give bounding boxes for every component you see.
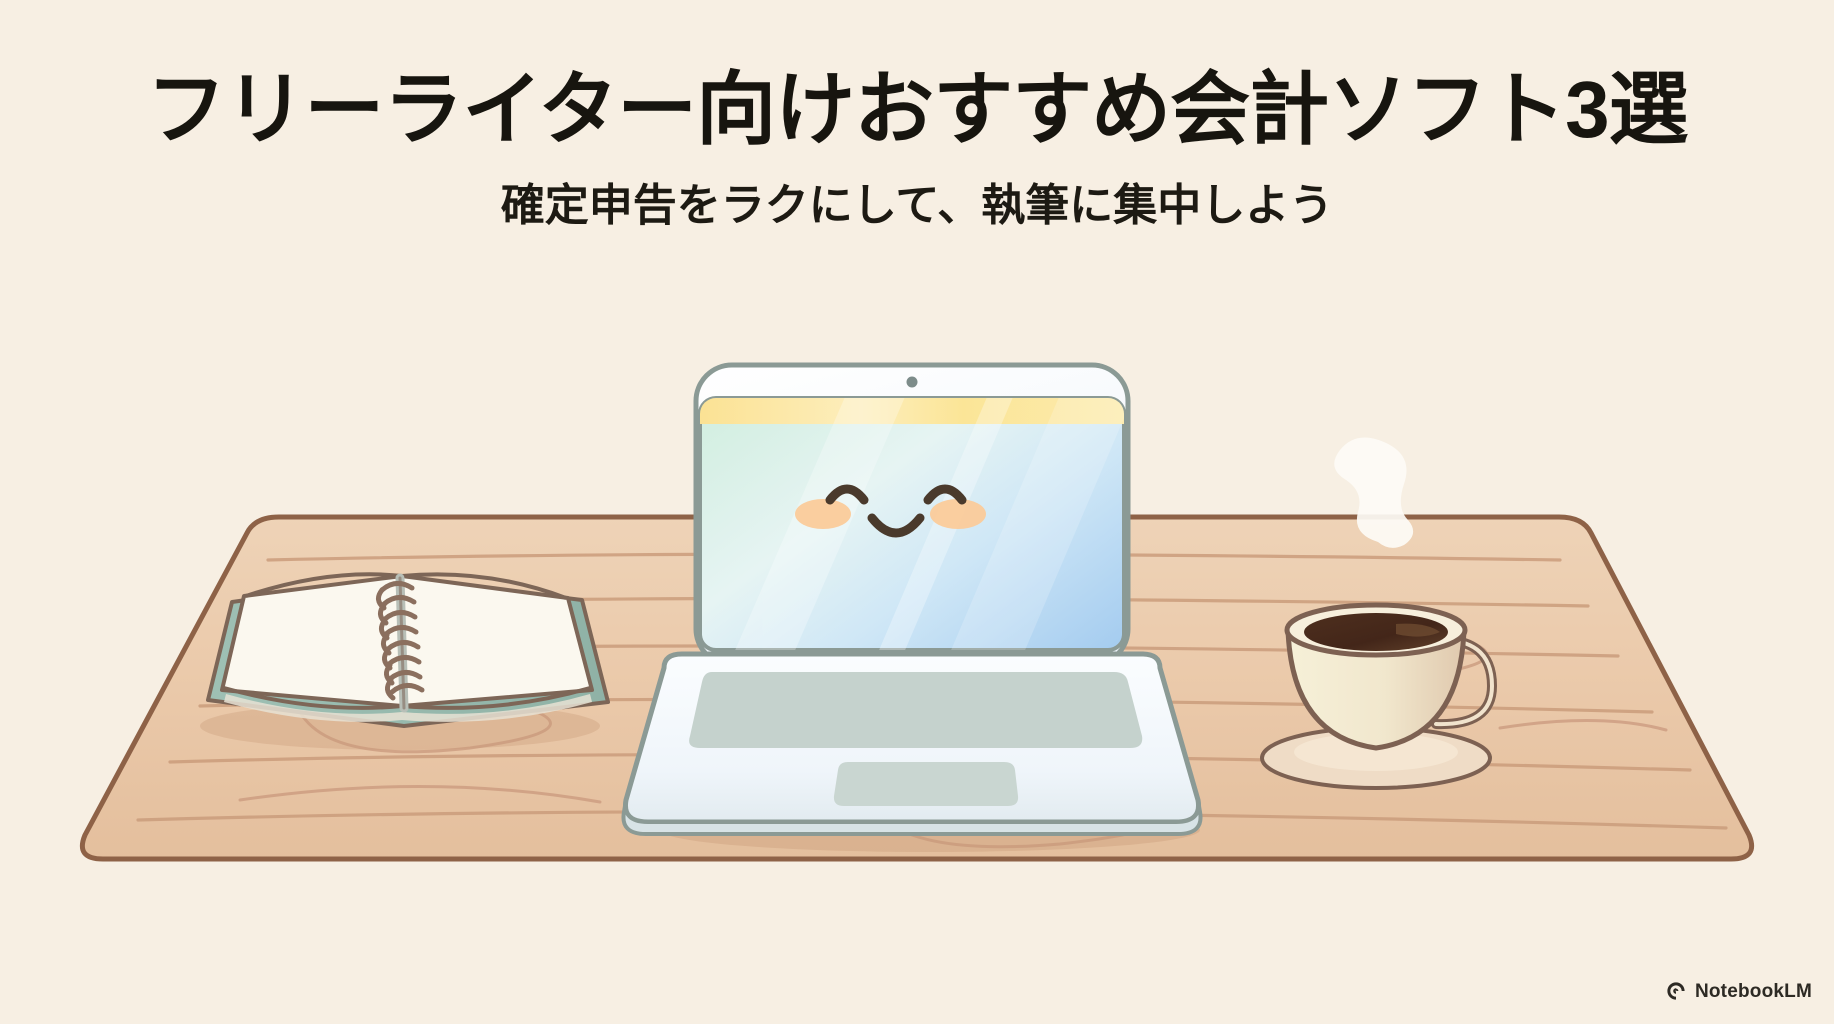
laptop-trackpad — [834, 762, 1018, 806]
notebooklm-spiral-icon — [1665, 980, 1687, 1002]
slide-canvas: フリーライター向けおすすめ会計ソフト3選 確定申告をラクにして、執筆に集中しよう… — [0, 0, 1834, 1024]
open-spiral-notebook — [200, 574, 608, 750]
laptop-screen — [700, 390, 1136, 662]
notebooklm-watermark: NotebookLM — [1665, 980, 1812, 1002]
laptop-keyboard — [689, 672, 1142, 748]
page-title: フリーライター向けおすすめ会計ソフト3選 — [0, 70, 1834, 150]
blush-left — [795, 499, 851, 529]
laptop — [623, 365, 1200, 852]
notebooklm-watermark-label: NotebookLM — [1695, 982, 1812, 1001]
laptop-lid — [696, 365, 1136, 665]
laptop-base — [623, 654, 1200, 834]
laptop-camera-dot — [907, 377, 918, 388]
blush-right — [930, 499, 986, 529]
page-subtitle: 確定申告をラクにして、執筆に集中しよう — [0, 184, 1834, 228]
